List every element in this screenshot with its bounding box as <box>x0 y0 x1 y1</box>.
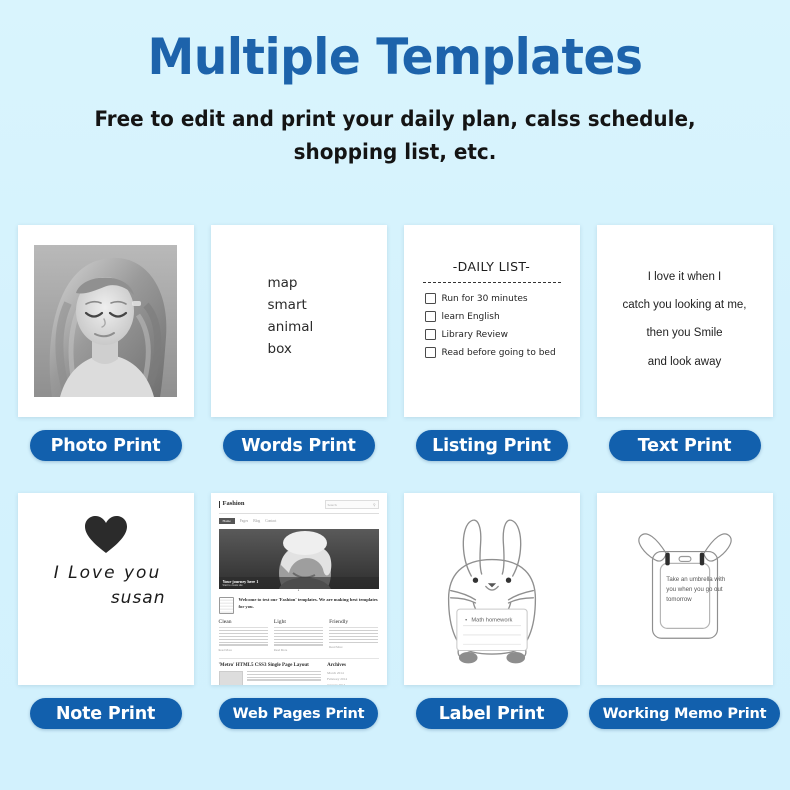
quote-line: catch you looking at me, <box>609 291 761 319</box>
memo-line-2: you when you go out <box>666 586 723 593</box>
label-note-text: Math homework <box>471 617 512 623</box>
photo-print-button[interactable]: Photo Print <box>30 430 182 461</box>
placeholder-text <box>274 630 323 646</box>
bunny-label-wrap: • Math homework <box>404 493 580 685</box>
website-footer-block: 'Metro' HTML5 CSS3 Single Page Layout Ar… <box>219 658 379 685</box>
website-nav[interactable]: Home Pages Blog Contact <box>219 518 379 524</box>
list-item[interactable]: Read before going to bed <box>425 347 563 358</box>
feature-column: Friendly Read More <box>329 619 378 652</box>
list-item[interactable]: Run for 30 minutes <box>425 293 563 304</box>
memo-tag-wrap: Take an umbrella with you when you go ou… <box>597 493 773 685</box>
checkbox-icon[interactable] <box>425 329 436 340</box>
web-pages-print-preview[interactable]: Fashion Search ⚲ Home Pages Blog Contact <box>211 493 387 685</box>
template-row-2: I Love you susan Note Print Fashion Sear… <box>0 493 790 729</box>
website-feature-columns: Clean Read More Light Read More Friendly <box>219 619 379 652</box>
listing-print-preview[interactable]: -DAILY LIST- Run for 30 minutes learn En… <box>404 225 580 417</box>
template-card-web-pages-print[interactable]: Fashion Search ⚲ Home Pages Blog Contact <box>211 493 387 729</box>
list-item-label: learn English <box>442 312 500 322</box>
carousel-dots-icon[interactable]: • <box>219 589 379 595</box>
memo-line-1: Take an umbrella with <box>666 576 725 583</box>
label-note-bullet: • <box>465 617 467 623</box>
list-item-label: Library Review <box>442 330 508 340</box>
nav-item-pages[interactable]: Pages <box>240 519 248 523</box>
note-line-1: I Love you <box>18 563 194 583</box>
list-item[interactable]: learn English <box>425 311 563 322</box>
nav-item-blog[interactable]: Blog <box>253 519 260 523</box>
photo-print-preview[interactable] <box>18 225 194 417</box>
search-icon[interactable]: ⚲ <box>373 503 375 507</box>
quote-line: and look away <box>609 348 761 376</box>
listing-print-button[interactable]: Listing Print <box>416 430 568 461</box>
dashed-divider <box>423 282 561 283</box>
feature-heading: Friendly <box>329 619 378 628</box>
note-print-button[interactable]: Note Print <box>30 698 182 729</box>
read-more-link[interactable]: Read More <box>329 645 378 649</box>
bunny-label-icon: • Math homework <box>430 512 554 667</box>
read-more-link[interactable]: Read More <box>274 648 323 652</box>
label-print-button[interactable]: Label Print <box>416 698 568 729</box>
nav-item-contact[interactable]: Contact <box>265 519 276 523</box>
note-print-preview[interactable]: I Love you susan <box>18 493 194 685</box>
website-mockup: Fashion Search ⚲ Home Pages Blog Contact <box>211 493 387 685</box>
list-item-label: Read before going to bed <box>442 348 556 358</box>
memo-line-3: tomorrow <box>666 596 692 603</box>
web-pages-print-button[interactable]: Web Pages Print <box>219 698 379 729</box>
welcome-text: Welcome to test our 'Fashion' templates.… <box>239 597 379 611</box>
checkbox-icon[interactable] <box>425 347 436 358</box>
page-title: Multiple Templates <box>24 30 767 85</box>
placeholder-text <box>247 671 322 685</box>
note-line-2: susan <box>18 588 194 608</box>
template-card-label-print[interactable]: • Math homework Label Print <box>404 493 580 729</box>
badge-icon <box>219 597 234 614</box>
label-print-preview[interactable]: • Math homework <box>404 493 580 685</box>
nav-item-home[interactable]: Home <box>219 518 235 524</box>
feature-column: Clean Read More <box>219 619 268 652</box>
heart-icon <box>84 515 128 555</box>
placeholder-text <box>219 630 268 646</box>
website-logo: Fashion <box>219 501 245 508</box>
words-print-button[interactable]: Words Print <box>223 430 375 461</box>
daily-list: -DAILY LIST- Run for 30 minutes learn En… <box>404 225 580 358</box>
search-placeholder: Search <box>328 503 337 507</box>
footer-archives: Archives March 2014 February 2014 Januar… <box>327 663 378 685</box>
template-card-note-print[interactable]: I Love you susan Note Print <box>18 493 194 729</box>
text-print-preview[interactable]: I love it when I catch you looking at me… <box>597 225 773 417</box>
feature-heading: Clean <box>219 619 268 628</box>
page-subtitle: Free to edit and print your daily plan, … <box>63 103 728 168</box>
words-list: map smart animal box <box>211 225 387 360</box>
bunny-memo-tag-icon: Take an umbrella with you when you go ou… <box>621 520 749 658</box>
checkbox-icon[interactable] <box>425 311 436 322</box>
template-card-words-print[interactable]: map smart animal box Words Print <box>211 225 387 461</box>
quote-line: then you Smile <box>609 319 761 347</box>
placeholder-text <box>329 630 378 643</box>
photo-frame <box>18 225 194 417</box>
page-header: Multiple Templates Free to edit and prin… <box>0 0 790 168</box>
archives-title: Archives <box>327 663 378 668</box>
archive-item[interactable]: March 2014 <box>327 671 378 675</box>
daily-list-title: -DAILY LIST- <box>421 259 563 274</box>
word-item: map <box>268 273 387 295</box>
hero-caption-sub: Start to create site <box>223 584 375 587</box>
words-print-preview[interactable]: map smart animal box <box>211 225 387 417</box>
read-more-link[interactable]: Read More <box>219 648 268 652</box>
subtitle-line-2: shopping list, etc. <box>63 136 728 169</box>
quote-text: I love it when I catch you looking at me… <box>597 225 773 376</box>
working-memo-print-preview[interactable]: Take an umbrella with you when you go ou… <box>597 493 773 685</box>
list-item-label: Run for 30 minutes <box>442 294 528 304</box>
template-card-photo-print[interactable]: Photo Print <box>18 225 194 461</box>
list-item[interactable]: Library Review <box>425 329 563 340</box>
note-content: I Love you susan <box>18 493 194 608</box>
footer-article: 'Metro' HTML5 CSS3 Single Page Layout <box>219 663 322 685</box>
archive-item[interactable]: February 2014 <box>327 677 378 681</box>
page-root: Multiple Templates Free to edit and prin… <box>0 0 790 790</box>
template-card-listing-print[interactable]: -DAILY LIST- Run for 30 minutes learn En… <box>404 225 580 461</box>
template-row-1: Photo Print map smart animal box Words P… <box>0 225 790 461</box>
word-item: box <box>268 339 387 361</box>
website-header: Fashion Search ⚲ <box>219 500 379 514</box>
website-welcome-block: Welcome to test our 'Fashion' templates.… <box>219 597 379 614</box>
quote-line: I love it when I <box>609 263 761 291</box>
template-card-text-print[interactable]: I love it when I catch you looking at me… <box>597 225 773 461</box>
template-grid: Photo Print map smart animal box Words P… <box>0 225 790 729</box>
subtitle-line-1: Free to edit and print your daily plan, … <box>63 103 728 136</box>
feature-heading: Light <box>274 619 323 628</box>
footer-thumbnail <box>219 671 243 685</box>
website-search-box[interactable]: Search ⚲ <box>325 500 379 509</box>
footer-article-title: 'Metro' HTML5 CSS3 Single Page Layout <box>219 663 322 668</box>
hero-caption: Your journey here 1 Start to create site <box>219 577 379 589</box>
working-memo-print-button[interactable]: Working Memo Print <box>589 698 781 729</box>
template-card-working-memo-print[interactable]: Take an umbrella with you when you go ou… <box>597 493 773 729</box>
checkbox-icon[interactable] <box>425 293 436 304</box>
word-item: smart <box>268 295 387 317</box>
website-hero-image: Your journey here 1 Start to create site <box>219 529 379 589</box>
girl-portrait-image <box>34 245 177 397</box>
text-print-button[interactable]: Text Print <box>609 430 761 461</box>
word-item: animal <box>268 317 387 339</box>
archive-item[interactable]: January 2014 <box>327 683 378 685</box>
feature-column: Light Read More <box>274 619 323 652</box>
